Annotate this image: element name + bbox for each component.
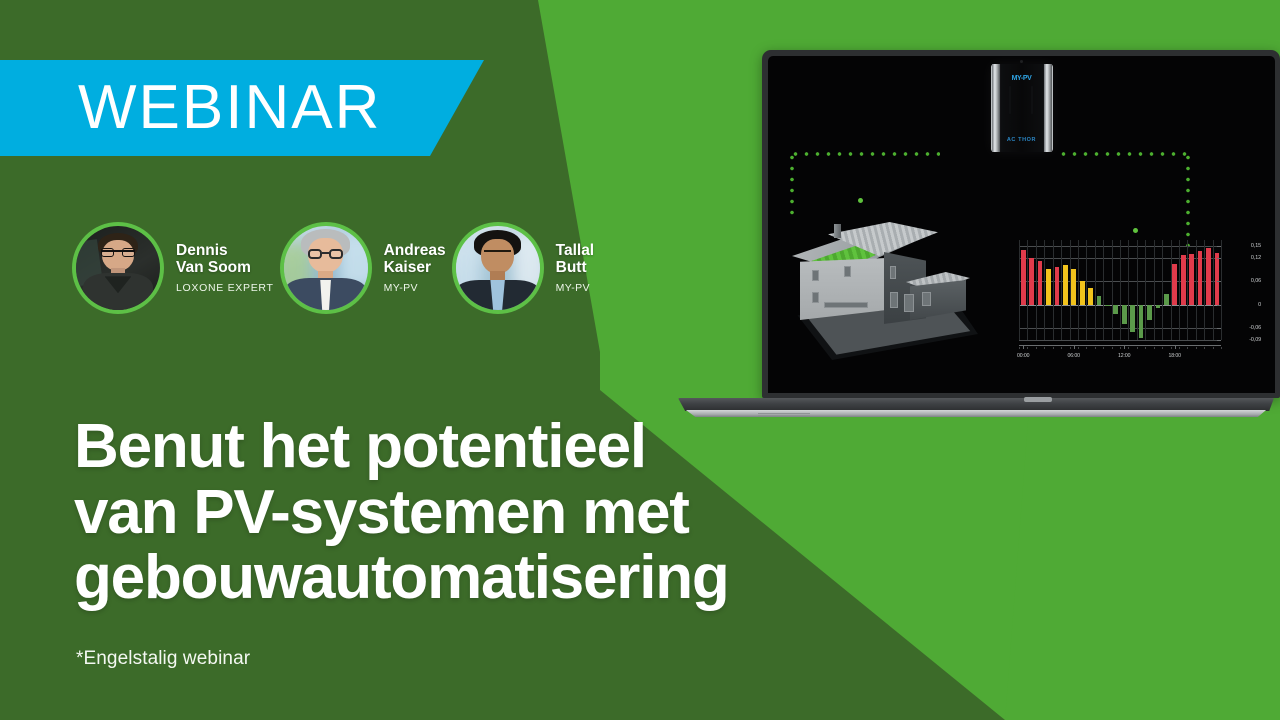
speaker-role: MY-PV — [556, 282, 594, 294]
chart-y-tick — [1217, 281, 1221, 282]
chart-x-minor-tick — [1171, 347, 1172, 349]
chart-bar-slot — [1095, 240, 1103, 340]
chart-bar-slot — [1145, 240, 1153, 340]
chart-x-minor-tick — [1213, 347, 1214, 349]
connection-line-horizontal — [790, 152, 940, 156]
chart-x-tick-label: 18:00 — [1168, 353, 1180, 359]
laptop-screen-bezel: MY-PV AC THOR — [762, 50, 1280, 398]
chart-y-tick — [1217, 305, 1221, 306]
chart-y-tick-label: 0,15 — [1251, 243, 1261, 249]
chart-bar — [1063, 265, 1068, 304]
chart-bar-slot — [1103, 240, 1111, 340]
chart-x-minor-tick — [1019, 347, 1020, 349]
chart-bar-slot — [1154, 240, 1162, 340]
chart-y-tick — [1217, 258, 1221, 259]
laptop-base — [672, 392, 1280, 418]
chart-x-minor-tick — [1103, 347, 1104, 349]
chart-bar — [1097, 296, 1102, 305]
chart-bar — [1156, 305, 1161, 308]
ac-thor-device: MY-PV AC THOR — [991, 64, 1053, 152]
chart-x-minor-tick — [1112, 347, 1113, 349]
page-title: Benut het potentieel van PV-systemen met… — [74, 414, 874, 611]
speaker-dennis-van-soom: Dennis Van Soom LOXONE EXPERT — [72, 222, 274, 314]
chart-bar-slot — [1162, 240, 1170, 340]
chart-bar — [1181, 255, 1186, 305]
chart-x-minor-tick — [1154, 347, 1155, 349]
status-dot-icon — [858, 198, 863, 203]
speaker-tallal-butt: Tallal Butt MY-PV — [452, 222, 594, 314]
chart-x-minor-tick — [1145, 347, 1146, 349]
chart-bar-slot — [1137, 240, 1145, 340]
speaker-grille — [758, 413, 810, 416]
chart-y-tick-label: 0,12 — [1251, 255, 1261, 261]
chart-x-tick-label: 00:00 — [1017, 353, 1029, 359]
chart-x-minor-tick — [1027, 347, 1028, 349]
chart-y-tick-label: 0,06 — [1251, 278, 1261, 284]
avatar-ring — [452, 222, 544, 314]
chart-x-minor-tick — [1053, 347, 1054, 349]
laptop-screen: MY-PV AC THOR — [768, 56, 1275, 393]
chart-x-minor-tick — [1044, 347, 1045, 349]
chart-x-tick — [1074, 346, 1075, 349]
avatar-ring — [72, 222, 164, 314]
chart-x-minor-tick — [1120, 347, 1121, 349]
energy-bar-chart: 0,150,120,060-0,06-0,0900:0006:0012:0018… — [1011, 234, 1263, 362]
speaker-list: Dennis Van Soom LOXONE EXPERT Andreas Ka… — [72, 222, 594, 314]
chart-y-tick — [1217, 246, 1221, 247]
chart-bar-slot — [1213, 240, 1221, 340]
chart-x-minor-tick — [1095, 347, 1096, 349]
chart-bar-slot — [1027, 240, 1035, 340]
chart-bar-slot — [1187, 240, 1195, 340]
chart-x-tick — [1124, 346, 1125, 349]
avatar-ring — [280, 222, 372, 314]
chart-bar — [1046, 269, 1051, 305]
chart-bar-slot — [1179, 240, 1187, 340]
chart-bar — [1215, 253, 1220, 305]
chart-bars — [1019, 240, 1221, 340]
chart-x-minor-tick — [1196, 347, 1197, 349]
chart-x-minor-tick — [1070, 347, 1071, 349]
chart-bar — [1139, 305, 1144, 338]
chart-bar — [1029, 258, 1034, 304]
chart-bar — [1206, 248, 1211, 305]
webinar-ribbon-label: WEBINAR — [0, 77, 381, 139]
chart-x-minor-tick — [1036, 347, 1037, 349]
house-3d-render — [786, 206, 978, 366]
connection-line-horizontal — [1058, 152, 1190, 156]
chart-bar — [1105, 305, 1110, 306]
chart-bar — [1130, 305, 1135, 332]
chart-x-minor-tick — [1179, 347, 1180, 349]
chart-x-minor-tick — [1162, 347, 1163, 349]
chart-bar-slot — [1070, 240, 1078, 340]
chart-connection-marker-icon — [1133, 228, 1138, 233]
chart-bar — [1147, 305, 1152, 321]
chart-x-tick-label: 06:00 — [1067, 353, 1079, 359]
chart-y-tick-label: 0 — [1258, 302, 1261, 308]
chart-bar — [1021, 250, 1026, 305]
chart-plot-area — [1019, 240, 1221, 340]
speaker-name: Dennis Van Soom — [176, 242, 274, 277]
chart-x-minor-tick — [1078, 347, 1079, 349]
chart-x-minor-tick — [1221, 347, 1222, 349]
chart-bar — [1080, 281, 1085, 305]
avatar — [456, 226, 540, 310]
my-pv-logo: MY-PV — [991, 75, 1053, 82]
chart-x-minor-tick — [1128, 347, 1129, 349]
chart-gridline-vertical — [1221, 240, 1222, 340]
avatar — [284, 226, 368, 310]
chart-x-axis — [1019, 345, 1221, 346]
chart-y-tick-label: -0,06 — [1249, 325, 1261, 331]
chart-bar-slot — [1204, 240, 1212, 340]
chart-x-minor-tick — [1086, 347, 1087, 349]
chart-bar — [1038, 261, 1043, 305]
chart-bar — [1122, 305, 1127, 324]
chart-bar-slot — [1128, 240, 1136, 340]
chart-bar — [1172, 264, 1177, 305]
chart-bar — [1071, 269, 1076, 304]
chart-gridline-horizontal — [1019, 340, 1221, 341]
chart-bar — [1189, 254, 1194, 305]
chart-bar-slot — [1053, 240, 1061, 340]
chart-bar-slot — [1044, 240, 1052, 340]
speaker-andreas-kaiser: Andreas Kaiser MY-PV — [280, 222, 446, 314]
chart-bar-slot — [1120, 240, 1128, 340]
webinar-ribbon: WEBINAR — [0, 60, 484, 156]
chart-x-tick-label: 12:00 — [1118, 353, 1130, 359]
speaker-name: Andreas Kaiser — [384, 242, 446, 277]
chart-bar-slot — [1196, 240, 1204, 340]
chart-x-minor-tick — [1061, 347, 1062, 349]
chart-bar-slot — [1078, 240, 1086, 340]
laptop-mockup: MY-PV AC THOR — [672, 50, 1280, 430]
device-model-label: AC THOR — [991, 137, 1053, 143]
chart-bar — [1088, 288, 1093, 305]
chart-bar — [1113, 305, 1118, 314]
chart-bar — [1164, 294, 1169, 305]
chart-bar-slot — [1112, 240, 1120, 340]
chart-bar — [1198, 251, 1203, 305]
chart-bar — [1055, 267, 1060, 305]
lid-notch — [1024, 397, 1052, 402]
chart-x-minor-tick — [1137, 347, 1138, 349]
speaker-name: Tallal Butt — [556, 242, 594, 277]
chart-bar-slot — [1036, 240, 1044, 340]
chart-y-tick — [1217, 328, 1221, 329]
chart-y-tick — [1217, 340, 1221, 341]
chart-bar-slot — [1019, 240, 1027, 340]
webcam-icon — [1020, 60, 1023, 63]
chart-bar-slot — [1061, 240, 1069, 340]
avatar — [76, 226, 160, 310]
chart-x-minor-tick — [1187, 347, 1188, 349]
chart-x-tick — [1175, 346, 1176, 349]
chart-x-minor-tick — [1204, 347, 1205, 349]
chart-x-tick — [1023, 346, 1024, 349]
chart-y-tick-label: -0,09 — [1249, 337, 1261, 343]
chart-bar-slot — [1086, 240, 1094, 340]
chart-bar-slot — [1171, 240, 1179, 340]
speaker-role: MY-PV — [384, 282, 446, 294]
language-note: *Engelstalig webinar — [76, 648, 250, 670]
speaker-role: LOXONE EXPERT — [176, 282, 274, 294]
